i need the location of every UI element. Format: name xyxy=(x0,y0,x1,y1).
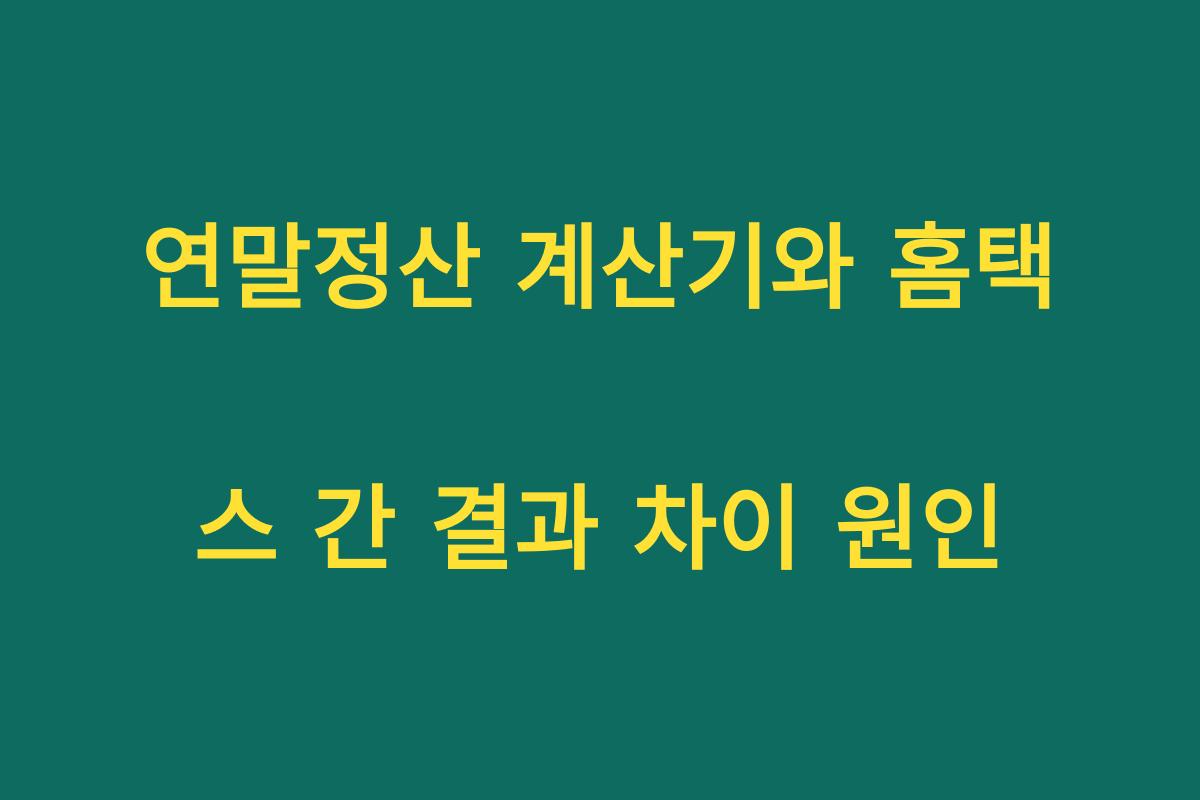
page-title-line-1: 연말정산 계산기와 홈택 xyxy=(70,204,1130,335)
page-title-line-2: 스 간 결과 차이 원인 xyxy=(70,465,1130,596)
page-title: 연말정산 계산기와 홈택 스 간 결과 차이 원인 xyxy=(70,73,1130,726)
title-banner: 연말정산 계산기와 홈택 스 간 결과 차이 원인 xyxy=(0,0,1200,800)
